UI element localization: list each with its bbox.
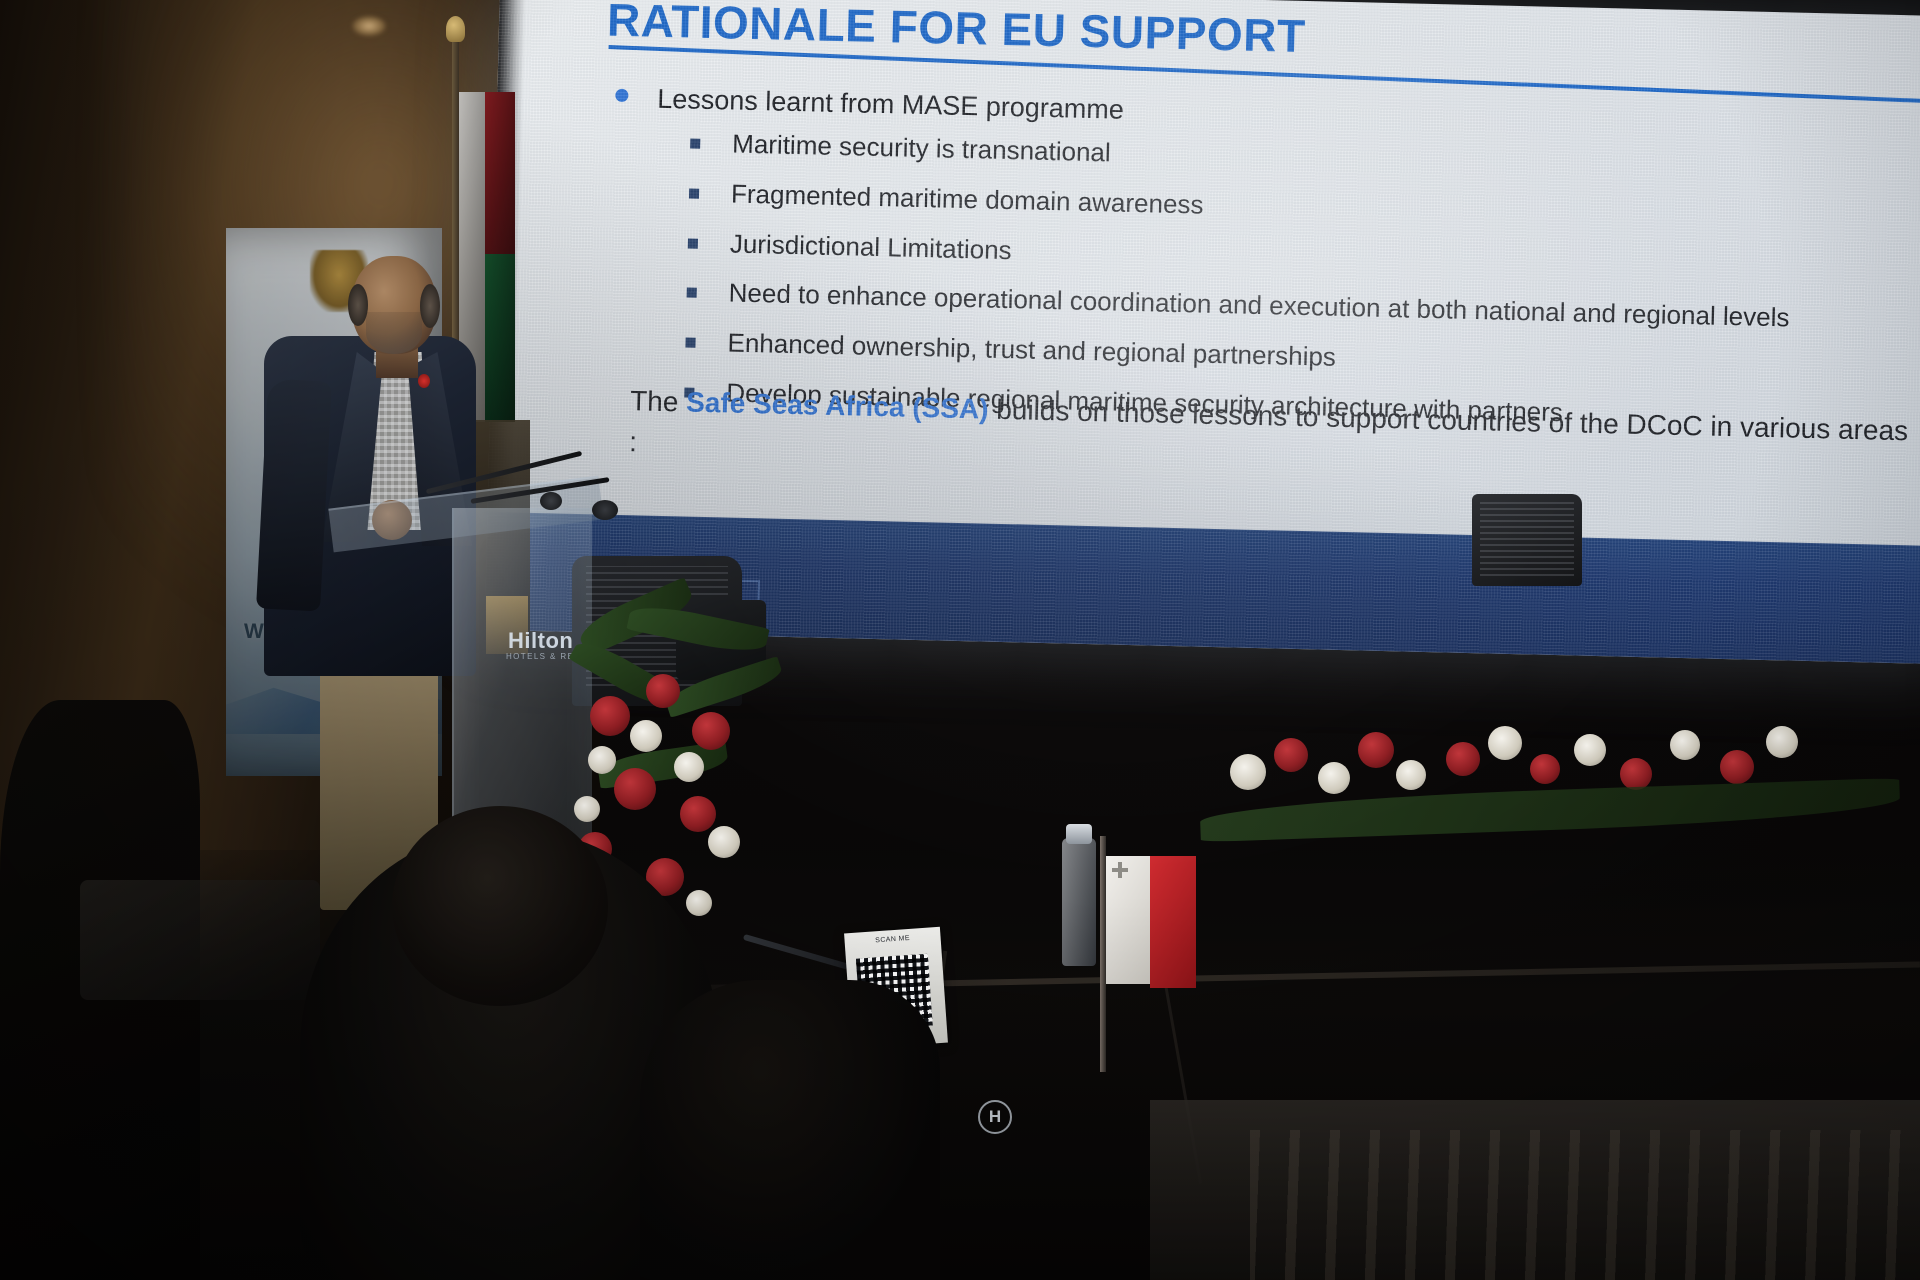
red-rose: [1358, 732, 1394, 768]
green-foliage: [1200, 778, 1901, 842]
red-rose: [1530, 754, 1560, 784]
red-rose: [680, 796, 716, 832]
flag-finial-icon: [446, 16, 465, 42]
foreground-object-left: [80, 880, 320, 1000]
audience-silhouette-center-head: [392, 806, 608, 1006]
speaker-hair-right: [420, 284, 440, 328]
qr-card-label: SCAN ME: [852, 933, 932, 946]
white-flower: [686, 890, 712, 916]
white-flower: [588, 746, 616, 774]
bullet-dot-icon: [615, 89, 628, 102]
audience-silhouette-right: [640, 980, 940, 1280]
table-flag-red-band: [1150, 856, 1196, 988]
stage-chair-right: [1472, 494, 1582, 586]
slide-title: RATIONALE FOR EU SUPPORT: [607, 0, 1307, 63]
ceiling-downlight: [352, 16, 386, 36]
red-rose: [590, 696, 630, 736]
white-flower: [674, 752, 704, 782]
venue-brand-name: Hilton: [508, 628, 573, 654]
white-flower: [574, 796, 600, 822]
speaker-arm-left: [256, 378, 332, 611]
speaker-hair-left: [348, 284, 368, 326]
white-flower: [1396, 760, 1426, 790]
red-rose: [1720, 750, 1754, 784]
water-bottle-cap: [1066, 824, 1092, 844]
flower-arrangement-right: [1200, 720, 1920, 950]
microphone-head-primary: [540, 492, 562, 510]
white-flower: [1574, 734, 1606, 766]
front-table-texture: [1250, 1130, 1920, 1280]
palm-leaf: [626, 600, 769, 658]
red-rose: [692, 712, 730, 750]
red-rose: [1620, 758, 1652, 790]
white-flower: [1766, 726, 1798, 758]
red-rose: [1446, 742, 1480, 776]
red-rose: [614, 768, 656, 810]
white-flower: [630, 720, 662, 752]
red-rose: [646, 674, 680, 708]
speaker-beard: [366, 312, 422, 354]
ssa-highlight: Safe Seas Africa (SSA): [686, 387, 989, 425]
microphone-head-secondary: [592, 500, 618, 520]
paragraph-lead: The: [630, 385, 687, 417]
water-bottle: [1062, 838, 1096, 966]
white-flower: [1230, 754, 1266, 790]
white-flower: [1488, 726, 1522, 760]
white-flower: [1318, 762, 1350, 794]
palm-leaf: [663, 656, 785, 718]
hilton-logo-icon: H: [978, 1100, 1012, 1134]
speaker-lapel-pin: [418, 374, 430, 388]
red-rose: [1274, 738, 1308, 772]
white-flower: [708, 826, 740, 858]
table-flag-cross-icon: [1112, 862, 1128, 878]
conference-room-scene: RATIONALE FOR EU SUPPORT Lessons learnt …: [0, 0, 1920, 1280]
white-flower: [1670, 730, 1700, 760]
